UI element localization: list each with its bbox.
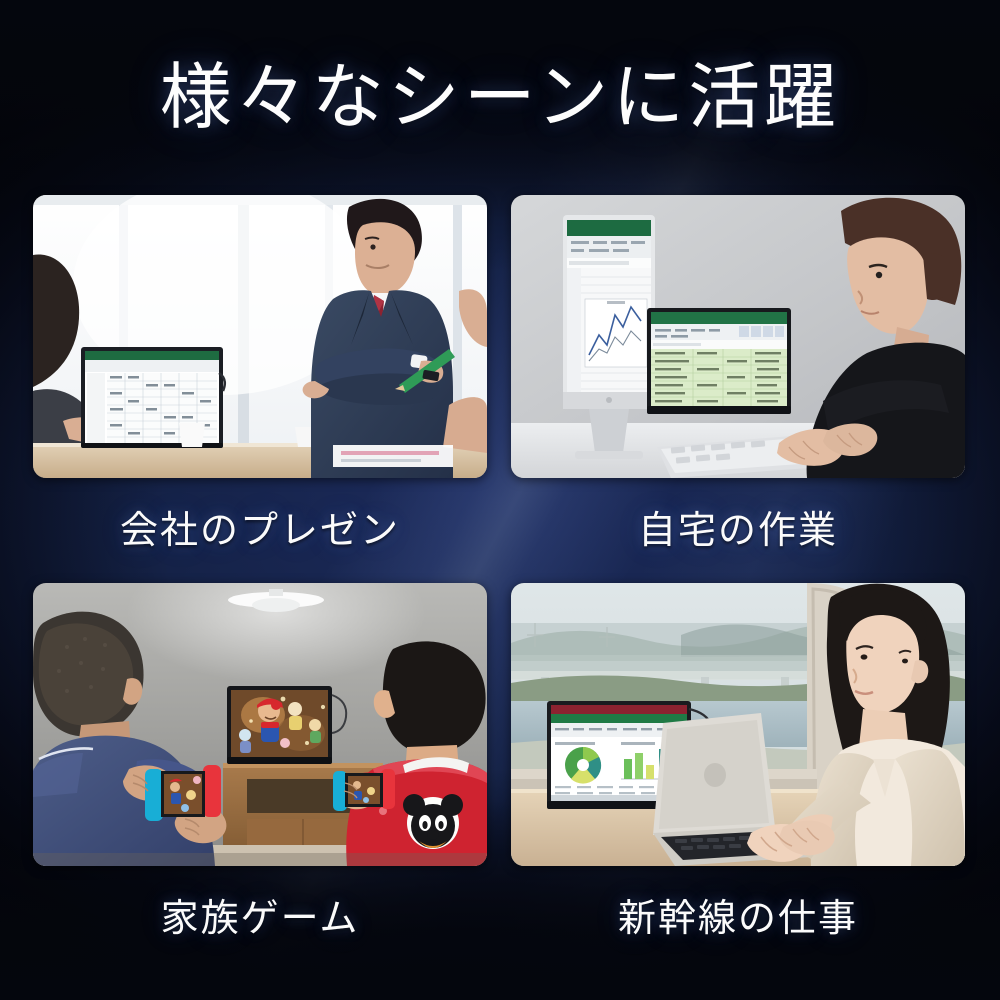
page-title: 様々なシーンに活躍 bbox=[0, 62, 1000, 134]
scene-cell-family-game bbox=[33, 583, 487, 866]
scene-photo-family-game bbox=[33, 583, 487, 866]
scene-grid: 会社のプレゼン 自宅の作業 bbox=[33, 195, 965, 866]
portable-monitor-home bbox=[647, 308, 791, 414]
portable-monitor-game bbox=[227, 686, 346, 764]
nintendo-switch-dad bbox=[145, 765, 221, 821]
scene-caption-office-presentation: 会社のプレゼン bbox=[33, 478, 487, 583]
scene-caption-shinkansen-work: 新幹線の仕事 bbox=[511, 866, 965, 971]
scene-cell-shinkansen-work bbox=[511, 583, 965, 866]
home-work-illustration bbox=[511, 195, 965, 478]
scene-caption-family-game: 家族ゲーム bbox=[33, 866, 487, 971]
promo-page: 様々なシーンに活躍 bbox=[0, 0, 1000, 1000]
scene-cell-home-work bbox=[511, 195, 965, 478]
scene-photo-home-work bbox=[511, 195, 965, 478]
scene-photo-office-presentation bbox=[33, 195, 487, 478]
shinkansen-work-illustration bbox=[511, 583, 965, 866]
scene-cell-office-presentation bbox=[33, 195, 487, 478]
scene-photo-shinkansen-work bbox=[511, 583, 965, 866]
office-presentation-illustration bbox=[33, 195, 487, 478]
family-game-illustration bbox=[33, 583, 487, 866]
scene-caption-home-work: 自宅の作業 bbox=[511, 478, 965, 583]
nintendo-switch-kid bbox=[333, 769, 395, 811]
